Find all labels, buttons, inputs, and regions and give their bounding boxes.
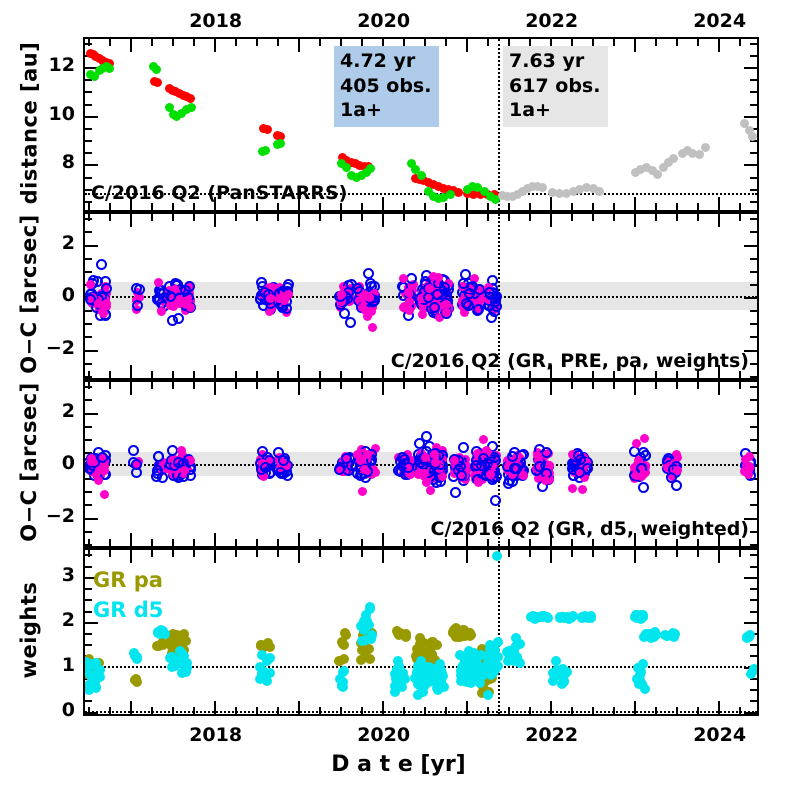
ytick xyxy=(750,218,757,220)
xtick xyxy=(424,214,426,221)
xtick xyxy=(361,39,363,46)
xtick xyxy=(676,214,678,221)
data-point-blue xyxy=(152,465,163,476)
xtick xyxy=(214,533,216,546)
data-point-magenta xyxy=(425,284,434,293)
xtick xyxy=(382,214,384,227)
caption-oc-pa: C/2016 Q2 (GR, PRE, pa, weights) xyxy=(391,350,749,374)
xtick xyxy=(403,214,405,221)
data-point-magenta xyxy=(421,453,430,462)
data-point-magenta xyxy=(99,309,108,318)
ytick xyxy=(750,323,757,325)
ytick xyxy=(85,712,98,714)
xtick xyxy=(403,203,405,210)
xtick xyxy=(403,39,405,46)
xtick xyxy=(739,550,741,557)
ytick xyxy=(744,622,757,624)
weight-point-gr-d5-outlier xyxy=(492,551,502,561)
weight-point-gr-d5 xyxy=(560,669,570,679)
xtick xyxy=(193,707,195,714)
weight-point-gr-d5 xyxy=(86,671,96,681)
panel-weights-plotarea: GR paGR d5 xyxy=(85,550,757,714)
data-point-magenta xyxy=(632,439,641,448)
ytick xyxy=(750,201,757,203)
xtick xyxy=(424,382,426,389)
xtick xyxy=(193,539,195,546)
data-point-blue xyxy=(467,281,478,292)
xtick xyxy=(256,550,258,557)
xlabel: D a t e [yr] xyxy=(0,752,797,777)
xtick xyxy=(256,539,258,546)
data-point-magenta xyxy=(541,476,550,485)
xtick xyxy=(382,550,384,563)
xtick xyxy=(361,203,363,210)
weight-point-gr-d5 xyxy=(749,664,757,674)
xtick xyxy=(130,701,132,714)
xtick xyxy=(445,39,447,46)
xtick xyxy=(277,550,279,557)
ytick xyxy=(744,413,757,415)
weight-point-gr-d5 xyxy=(485,659,495,669)
xtick xyxy=(403,539,405,546)
ytick xyxy=(85,128,92,130)
ytick xyxy=(85,363,92,365)
xtick xyxy=(487,550,489,557)
ytick xyxy=(85,164,98,166)
ytick xyxy=(744,712,757,714)
ytick xyxy=(750,43,757,45)
xtick xyxy=(298,365,300,378)
xtick xyxy=(319,214,321,221)
xtick xyxy=(403,707,405,714)
ytick xyxy=(750,566,757,568)
xtick xyxy=(718,701,720,714)
data-point-magenta xyxy=(422,478,431,487)
xtick xyxy=(529,707,531,714)
data-point-blue xyxy=(131,459,142,470)
ytick xyxy=(85,258,92,260)
xtick xyxy=(193,214,195,221)
xtick xyxy=(193,39,195,46)
xtick xyxy=(508,382,510,389)
xtick xyxy=(424,39,426,46)
ytick xyxy=(750,599,757,601)
weight-point-gr-d5 xyxy=(430,674,440,684)
weight-point-gr-d5 xyxy=(650,631,660,641)
ytick xyxy=(750,91,757,93)
xtick xyxy=(109,539,111,546)
data-point-magenta xyxy=(474,478,483,487)
xtick xyxy=(340,39,342,46)
xtick xyxy=(193,550,195,557)
xtick xyxy=(508,214,510,221)
xtick xyxy=(571,382,573,389)
ylabel-distance: distance [au] xyxy=(17,35,41,210)
xtick xyxy=(508,550,510,557)
ytick xyxy=(85,566,92,568)
xtick xyxy=(298,550,300,563)
xtick xyxy=(172,214,174,221)
data-point-red xyxy=(186,94,195,103)
xtick xyxy=(466,197,468,210)
xtick xyxy=(718,382,720,395)
ytick xyxy=(750,531,757,533)
data-point-blue xyxy=(573,450,584,461)
data-point-blue xyxy=(509,463,520,474)
xtick xyxy=(487,707,489,714)
xtick xyxy=(718,197,720,210)
weight-point-gr-d5 xyxy=(548,676,558,686)
data-point-magenta xyxy=(87,454,96,463)
data-point-gray xyxy=(538,183,547,192)
ytick xyxy=(750,231,757,233)
weight-point-gr-d5 xyxy=(509,647,519,657)
xtick xyxy=(403,382,405,389)
weight-point-gr-d5 xyxy=(91,682,101,692)
data-point-blue xyxy=(165,291,176,302)
xtick xyxy=(697,39,699,46)
xtick xyxy=(571,707,573,714)
xtick xyxy=(613,707,615,714)
data-point-green xyxy=(446,190,455,199)
data-point-gray xyxy=(701,143,710,152)
xtick xyxy=(445,550,447,557)
xtick xyxy=(214,214,216,227)
weight-point-gr-d5 xyxy=(483,690,493,700)
xtick xyxy=(592,382,594,389)
xtick xyxy=(613,39,615,46)
xtick xyxy=(634,701,636,714)
annotation-post-perihelion-box: 7.63 yr 617 obs. 1a+ xyxy=(503,46,608,127)
ytick xyxy=(85,336,92,338)
ytick xyxy=(750,700,757,702)
ytick xyxy=(744,245,757,247)
xtick xyxy=(361,382,363,389)
xtick xyxy=(130,533,132,546)
xtick xyxy=(466,550,468,563)
xtick xyxy=(424,550,426,557)
xtick xyxy=(571,214,573,221)
data-point-blue xyxy=(345,317,356,328)
xtick xyxy=(571,203,573,210)
data-point-blue xyxy=(283,279,294,290)
xtick xyxy=(592,39,594,46)
panel-oc-pa: C/2016 Q2 (GR, PRE, pa, weights) xyxy=(83,212,759,380)
xtick xyxy=(466,39,468,52)
xtick xyxy=(697,707,699,714)
data-point-magenta xyxy=(154,278,163,287)
caption-distance: C/2016 Q2 (PanSTARRS) xyxy=(91,182,347,206)
xtick xyxy=(214,382,216,395)
xtick xyxy=(445,214,447,221)
weight-point-gr-d5 xyxy=(362,616,372,626)
ytick xyxy=(85,323,92,325)
data-point-green xyxy=(417,171,426,180)
xtick xyxy=(193,382,195,389)
xtick xyxy=(634,197,636,210)
xtick-label-top-2024: 2024 xyxy=(693,10,745,32)
perihelion-line-weights xyxy=(498,550,500,714)
xtick xyxy=(340,539,342,546)
data-point-blue xyxy=(282,470,293,481)
weight-point-gr-d5 xyxy=(262,676,272,686)
data-point-magenta xyxy=(673,466,682,475)
xtick xyxy=(151,707,153,714)
xtick xyxy=(340,214,342,221)
xtick xyxy=(340,707,342,714)
ytick xyxy=(750,271,757,273)
xtick xyxy=(256,214,258,221)
xtick xyxy=(88,539,90,546)
data-point-blue xyxy=(484,287,495,298)
xtick xyxy=(382,197,384,210)
xtick xyxy=(634,39,636,52)
xtick xyxy=(172,539,174,546)
ytick xyxy=(750,544,757,546)
ytick xyxy=(750,504,757,506)
data-point-blue xyxy=(486,312,497,323)
ytick xyxy=(744,297,757,299)
xtick xyxy=(592,550,594,557)
xtick xyxy=(634,214,636,227)
xtick xyxy=(550,214,552,227)
xtick xyxy=(88,214,90,221)
xtick xyxy=(424,203,426,210)
weight-point-gr-d5 xyxy=(400,674,410,684)
xtick xyxy=(655,550,657,557)
xtick xyxy=(445,382,447,389)
ytick xyxy=(85,177,92,179)
xtick xyxy=(676,382,678,389)
xtick-label-bottom-2022: 2022 xyxy=(525,724,577,746)
ytick xyxy=(744,67,757,69)
ytick xyxy=(750,491,757,493)
data-point-magenta xyxy=(426,486,435,495)
xtick xyxy=(109,382,111,389)
data-point-magenta xyxy=(639,470,648,479)
weight-point-gr-pa xyxy=(340,628,350,638)
ytick xyxy=(750,554,757,556)
caption-oc-d5: C/2016 Q2 (GR, d5, weighted) xyxy=(431,518,749,542)
ytick xyxy=(85,633,92,635)
ytick xyxy=(750,79,757,81)
ytick xyxy=(750,310,757,312)
xtick xyxy=(256,39,258,46)
annotation-pre-perihelion-box: 4.72 yr 405 obs. 1a+ xyxy=(334,46,439,127)
ytick xyxy=(750,611,757,613)
xtick xyxy=(109,371,111,378)
xtick xyxy=(382,533,384,546)
xtick xyxy=(172,550,174,557)
data-point-blue xyxy=(399,454,410,465)
xtick xyxy=(319,371,321,378)
xtick xyxy=(130,550,132,563)
xtick xyxy=(718,550,720,563)
ytick xyxy=(750,426,757,428)
data-point-blue xyxy=(450,487,461,498)
weight-point-gr-d5 xyxy=(413,690,423,700)
xtick xyxy=(172,382,174,389)
data-point-magenta xyxy=(367,307,376,316)
xtick xyxy=(277,539,279,546)
ytick xyxy=(750,284,757,286)
weight-point-gr-d5 xyxy=(638,612,648,622)
xtick xyxy=(88,203,90,210)
xtick xyxy=(235,539,237,546)
xtick xyxy=(88,550,90,557)
xtick xyxy=(592,203,594,210)
data-point-blue xyxy=(473,304,484,315)
xtick xyxy=(550,550,552,563)
weight-point-gr-d5 xyxy=(415,663,425,673)
xtick-label-top-2020: 2020 xyxy=(357,10,409,32)
data-point-magenta xyxy=(100,490,109,499)
panel-oc-pa-plotarea: C/2016 Q2 (GR, PRE, pa, weights) xyxy=(85,214,757,378)
xtick xyxy=(739,39,741,46)
data-point-magenta xyxy=(360,465,369,474)
ytick xyxy=(750,258,757,260)
xtick xyxy=(298,214,300,227)
ytick xyxy=(85,231,92,233)
ylabel-oc-d5: O−C [arcsec] xyxy=(17,378,41,546)
weight-point-gr-d5 xyxy=(744,632,754,642)
xtick xyxy=(319,550,321,557)
xtick xyxy=(361,707,363,714)
data-point-red xyxy=(263,125,272,134)
data-point-green xyxy=(187,103,196,112)
weight-point-gr-pa xyxy=(360,648,370,658)
xtick xyxy=(487,203,489,210)
ytick xyxy=(750,655,757,657)
weight-point-gr-d5 xyxy=(393,656,403,666)
ytick xyxy=(85,439,92,441)
ytick xyxy=(85,399,92,401)
weight-point-gr-d5 xyxy=(95,665,105,675)
figure-root: C/2016 Q2 (PanSTARRS)81012distance [au]C… xyxy=(0,0,797,797)
ytick xyxy=(750,689,757,691)
data-point-gray xyxy=(669,154,678,163)
xtick xyxy=(298,39,300,52)
weights-legend-gr-d5: GR d5 xyxy=(93,598,163,622)
data-point-blue xyxy=(167,315,178,326)
data-point-magenta xyxy=(442,308,451,317)
data-point-green xyxy=(152,65,161,74)
xtick xyxy=(508,39,510,46)
xtick xyxy=(739,707,741,714)
ytick xyxy=(750,399,757,401)
xtick xyxy=(487,214,489,221)
xtick xyxy=(571,39,573,46)
xtick xyxy=(235,214,237,221)
xtick-label-top-2018: 2018 xyxy=(189,10,241,32)
xtick xyxy=(739,382,741,389)
data-point-magenta xyxy=(479,435,488,444)
data-point-blue xyxy=(534,461,545,472)
xtick xyxy=(235,371,237,378)
xtick xyxy=(277,707,279,714)
xtick xyxy=(697,382,699,389)
data-point-magenta xyxy=(640,434,649,443)
data-point-magenta xyxy=(363,450,372,459)
xtick xyxy=(550,197,552,210)
data-point-blue xyxy=(463,300,474,311)
xtick xyxy=(319,539,321,546)
xtick xyxy=(88,39,90,46)
xtick xyxy=(508,203,510,210)
xtick xyxy=(634,550,636,563)
weight-point-gr-d5 xyxy=(635,675,645,685)
ytick xyxy=(85,350,98,352)
xtick xyxy=(655,214,657,221)
weight-point-gr-pa xyxy=(338,639,348,649)
data-point-blue xyxy=(490,495,501,506)
xtick xyxy=(613,382,615,389)
weight-point-gr-d5 xyxy=(176,658,186,668)
ytick xyxy=(85,116,98,118)
ylabel-weights: weights xyxy=(17,546,41,714)
ytick xyxy=(750,104,757,106)
xtick xyxy=(382,365,384,378)
xtick xyxy=(88,382,90,389)
xtick xyxy=(487,39,489,46)
xtick xyxy=(109,214,111,221)
data-point-magenta xyxy=(404,288,413,297)
xtick xyxy=(172,707,174,714)
xtick xyxy=(193,371,195,378)
xtick xyxy=(676,39,678,46)
xtick xyxy=(613,214,615,221)
xtick xyxy=(298,701,300,714)
data-point-magenta xyxy=(431,458,440,467)
ytick xyxy=(85,271,92,273)
weight-point-gr-pa xyxy=(152,641,162,651)
xtick xyxy=(214,701,216,714)
data-point-blue xyxy=(101,283,112,294)
data-point-green xyxy=(261,146,270,155)
ytick xyxy=(744,577,757,579)
xtick xyxy=(739,203,741,210)
weight-point-gr-d5 xyxy=(566,613,576,623)
xtick xyxy=(592,707,594,714)
xtick xyxy=(256,371,258,378)
xtick xyxy=(382,701,384,714)
panel-weights: GR paGR d5 xyxy=(83,548,759,716)
xtick xyxy=(151,550,153,557)
data-point-magenta xyxy=(486,470,495,479)
xtick xyxy=(466,214,468,227)
xtick xyxy=(655,707,657,714)
ytick xyxy=(85,504,92,506)
data-point-red xyxy=(153,78,162,87)
ytick xyxy=(85,518,98,520)
xtick xyxy=(445,203,447,210)
xtick xyxy=(529,39,531,46)
xtick xyxy=(319,707,321,714)
weight-point-gr-d5 xyxy=(493,637,503,647)
data-point-blue xyxy=(97,452,108,463)
xtick xyxy=(718,214,720,227)
data-point-blue xyxy=(134,284,145,295)
panel-oc-d5: C/2016 Q2 (GR, d5, weighted) xyxy=(83,380,759,548)
ytick xyxy=(750,336,757,338)
xtick xyxy=(319,382,321,389)
data-point-magenta xyxy=(183,296,192,305)
xtick xyxy=(697,550,699,557)
ytick xyxy=(85,245,98,247)
xtick xyxy=(130,39,132,52)
ytick xyxy=(750,644,757,646)
data-point-magenta xyxy=(568,484,577,493)
